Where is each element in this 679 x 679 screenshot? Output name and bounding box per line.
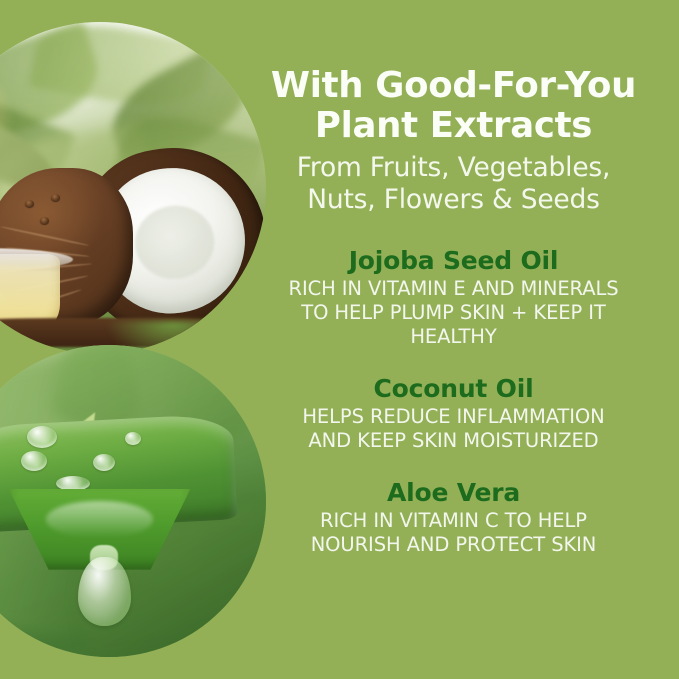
ingredient-description: RICH IN VITAMIN C TO HELP NOURISH AND PR… [268,509,639,557]
ingredient-list: Jojoba Seed Oil RICH IN VITAMIN E AND MI… [268,246,639,557]
ingredient-jojoba-seed-oil: Jojoba Seed Oil RICH IN VITAMIN E AND MI… [268,246,639,349]
ingredient-coconut-oil: Coconut Oil HELPS REDUCE INFLAMMATION AN… [268,374,639,453]
subheadline-line-2: Nuts, Flowers & Seeds [268,184,639,216]
ingredient-description-line-1: RICH IN VITAMIN C TO HELP [268,509,639,533]
ingredient-description: RICH IN VITAMIN E AND MINERALS TO HELP P… [268,277,639,348]
ingredient-description-line-2: AND KEEP SKIN MOISTURIZED [268,429,639,453]
aloe-photo-circle [0,345,266,657]
ingredient-description: HELPS REDUCE INFLAMMATION AND KEEP SKIN … [268,405,639,453]
coconut-eye [51,194,60,201]
text-column: With Good-For-You Plant Extracts From Fr… [268,0,659,679]
ingredient-description-line-1: HELPS REDUCE INFLAMMATION [268,405,639,429]
coconut-eye [40,217,49,224]
ingredient-name: Coconut Oil [268,374,639,404]
ingredient-description-line-1: RICH IN VITAMIN E AND MINERALS [268,277,639,301]
ingredient-aloe-vera: Aloe Vera RICH IN VITAMIN C TO HELP NOUR… [268,478,639,557]
coconut-eye [25,200,34,207]
ingredient-name: Aloe Vera [268,478,639,508]
ingredient-name: Jojoba Seed Oil [268,246,639,276]
ingredient-description-line-2: TO HELP PLUMP SKIN + KEEP IT HEALTHY [268,301,639,349]
aloe-gel-droplet [78,557,131,626]
subheadline: From Fruits, Vegetables, Nuts, Flowers &… [268,152,639,216]
headline-line-2: Plant Extracts [268,106,639,146]
subheadline-line-1: From Fruits, Vegetables, [268,152,639,184]
aloe-photo [0,345,266,657]
product-infographic: With Good-For-You Plant Extracts From Fr… [0,0,679,679]
coconut-photo-circle [0,22,266,354]
headline: With Good-For-You Plant Extracts [268,0,639,146]
headline-line-1: With Good-For-You [268,66,639,106]
coconut-cavity [131,201,219,284]
coconut-photo [0,22,266,354]
husk-fibre [0,226,89,247]
ingredient-description-line-2: NOURISH AND PROTECT SKIN [268,533,639,557]
water-droplet [21,451,47,471]
